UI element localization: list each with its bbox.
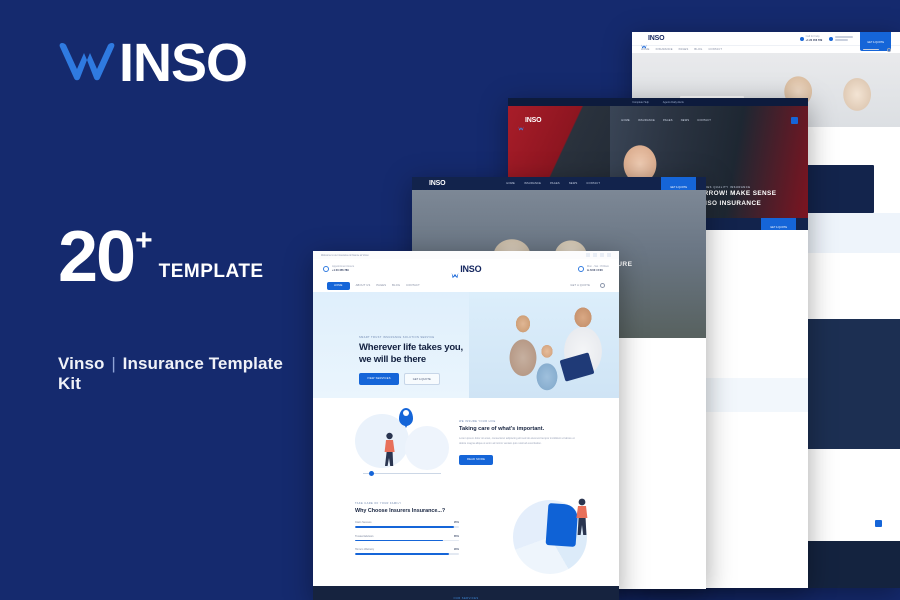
progress-bar-row: Home's Warranty 90%	[355, 548, 459, 555]
main-topbar: Welcome to our insurance & finance at Vi…	[313, 251, 619, 259]
progress-track	[355, 540, 459, 542]
selfie-nav[interactable]: INSO HOME INSURANCE PAGES NEWS CONTACT G…	[412, 177, 706, 190]
main-contact2-value: to 6:00 / 6:00	[587, 269, 609, 273]
elderly-contact-value: +1 23 456 789	[806, 39, 823, 43]
nav-item-pages[interactable]: PAGES	[376, 284, 386, 287]
main-section3-title: Why Choose Insurers Insurance...?	[355, 508, 459, 514]
main-hero-kicker: SMART TRUST INSURANCE SOLUTION SERVICE	[359, 336, 467, 339]
left-panel: INSO 20 + TEMPLATE Vinso | Insurance Tem…	[0, 0, 310, 600]
selfie-logo[interactable]: INSO	[422, 180, 445, 187]
nav-item-contact[interactable]: CONTACT	[406, 284, 420, 287]
elderly-logo[interactable]: INSO	[641, 35, 664, 42]
main-section2-body: Lorem ipsum dolor sit amet, consectetur …	[459, 437, 577, 447]
nav-item[interactable]: INSURANCE	[638, 119, 655, 122]
search-icon[interactable]	[887, 48, 891, 52]
nav-item[interactable]: PAGES	[550, 182, 560, 185]
car-topbar-right: Agents Daily Alerts	[663, 101, 684, 104]
car-topbar: Complete Help Agents Daily Alerts	[508, 98, 808, 106]
nav-item[interactable]: PAGES	[679, 48, 689, 51]
main-contact-2[interactable]: Mon - Sat : 8:00am to 6:00 / 6:00	[578, 265, 609, 273]
main-logo-text: INSO	[460, 264, 481, 274]
progress-percent: 95%	[454, 521, 459, 524]
hands-v-icon	[451, 266, 459, 273]
car-nav-items[interactable]: HOME INSURANCE PAGES NEWS CONTACT	[621, 119, 711, 122]
nav-item-home[interactable]: HOME	[327, 282, 350, 290]
main-pie-chart	[495, 492, 605, 580]
main-hero: SMART TRUST INSURANCE SOLUTION SERVICE W…	[313, 292, 619, 398]
progress-track	[355, 553, 459, 555]
instagram-icon[interactable]	[607, 253, 611, 257]
template-label: TEMPLATE	[159, 261, 264, 283]
template-count-plus: +	[135, 226, 153, 256]
hands-v-icon	[518, 118, 524, 123]
main-hero-secondary-button[interactable]: GET A QUOTE	[404, 373, 440, 385]
progress-bar-row: Claim Success 95%	[355, 521, 459, 528]
nav-item[interactable]: CONTACT	[708, 48, 722, 51]
person-illustration	[575, 498, 589, 538]
selfie-nav-items[interactable]: HOME INSURANCE PAGES NEWS CONTACT	[506, 182, 600, 185]
main-hero-photo	[469, 292, 619, 398]
person-illustration	[383, 432, 396, 468]
main-section3-kicker: TAKE CARE OF YOUR FAMILY	[355, 502, 459, 505]
main-contact-1[interactable]: Appointment Hours +1 23 456 789	[323, 265, 354, 273]
main-contact1-value: +1 23 456 789	[332, 269, 354, 273]
main-section2-title: Taking care of what's important.	[459, 426, 577, 432]
map-pin-icon	[399, 408, 413, 426]
main-section-care-copy: WE INSURE YOUR LIFE Taking care of what'…	[459, 420, 577, 465]
car-logo-text: INSO	[525, 117, 541, 124]
search-icon[interactable]	[600, 283, 605, 288]
nav-item-about[interactable]: ABOUT US	[356, 284, 371, 287]
main-section-why: TAKE CARE OF YOUR FAMILY Why Choose Insu…	[313, 486, 619, 586]
template-count: 20 + TEMPLATE	[58, 228, 264, 287]
pie-chart-slice	[546, 503, 579, 547]
main-section2-button[interactable]: READ MORE	[459, 455, 493, 465]
nav-item[interactable]: BLOG	[694, 48, 702, 51]
progress-bar-row: Trusted Advisors 85%	[355, 535, 459, 542]
car-topbar-left: Complete Help	[632, 101, 649, 104]
blur-line	[863, 49, 879, 51]
nav-item-blog[interactable]: BLOG	[392, 284, 400, 287]
clock-icon	[829, 37, 833, 41]
nav-item[interactable]: NEWS	[681, 119, 690, 122]
main-topbar-note: Welcome to our insurance & finance at Vi…	[321, 254, 369, 257]
main-nav-cta[interactable]: GET A QUOTE	[570, 284, 590, 287]
car-logo[interactable]: INSO	[518, 117, 541, 124]
main-hero-primary-button[interactable]: VIEW SERVICES	[359, 373, 399, 385]
blur-line	[835, 36, 853, 38]
main-topbar-social[interactable]	[586, 253, 611, 257]
main-illustration	[353, 406, 453, 478]
elderly-nav-items[interactable]: HOME INSURANCE PAGES BLOG CONTACT	[641, 48, 722, 51]
facebook-icon[interactable]	[586, 253, 590, 257]
nav-item[interactable]: INSURANCE	[656, 48, 673, 51]
phone-icon	[800, 37, 804, 41]
hands-v-icon	[57, 40, 117, 86]
linkedin-icon[interactable]	[600, 253, 604, 257]
progress-label: Home's Warranty	[355, 548, 374, 551]
elderly-nav[interactable]: INSO Call for help +1 23 456 789	[632, 32, 900, 45]
clock-icon	[323, 266, 329, 272]
progress-percent: 85%	[454, 535, 459, 538]
nav-item[interactable]: NEWS	[569, 182, 578, 185]
progress-percent: 90%	[454, 548, 459, 551]
showcase-canvas: INSO Call for help +1 23 456 789	[0, 0, 900, 600]
nav-item[interactable]: CONTACT	[586, 182, 600, 185]
selfie-logo-text: INSO	[429, 180, 445, 187]
main-section-why-copy: TAKE CARE OF YOUR FAMILY Why Choose Insu…	[355, 502, 459, 555]
kit-subtitle-divider: |	[109, 354, 118, 373]
main-hero-buttons[interactable]: VIEW SERVICES GET A QUOTE	[359, 373, 467, 385]
kit-subtitle-name: Vinso	[58, 354, 104, 373]
twitter-icon[interactable]	[593, 253, 597, 257]
main-header[interactable]: Appointment Hours +1 23 456 789 INSO Mon…	[313, 259, 619, 279]
main-logo[interactable]: INSO	[451, 264, 482, 274]
template-count-number: 20	[58, 228, 134, 287]
main-nav-items[interactable]: HOME ABOUT US PAGES BLOG CONTACT	[327, 282, 420, 290]
elderly-logo-text: INSO	[648, 35, 664, 42]
nav-item[interactable]: PAGES	[663, 119, 673, 122]
main-hero-title-1: Wherever life takes you,	[359, 342, 467, 354]
car-nav[interactable]: INSO HOME INSURANCE PAGES NEWS CONTACT	[508, 114, 808, 127]
main-footer: OUR SERVICES Our feature services	[313, 586, 619, 600]
calendar-icon	[578, 266, 584, 272]
kit-subtitle: Vinso | Insurance Template Kit	[58, 354, 310, 394]
main-section-care: WE INSURE YOUR LIFE Taking care of what'…	[313, 398, 619, 486]
mockup-main[interactable]: Welcome to our insurance & finance at Vi…	[313, 251, 619, 600]
nav-item[interactable]: HOME	[506, 182, 515, 185]
main-hero-copy: SMART TRUST INSURANCE SOLUTION SERVICE W…	[359, 336, 467, 385]
nav-item[interactable]: INSURANCE	[524, 182, 541, 185]
main-hero-title-2: we will be there	[359, 354, 467, 366]
hands-v-icon	[422, 181, 428, 186]
brand-logo: INSO	[57, 36, 247, 90]
blur-line	[835, 39, 848, 41]
progress-label: Claim Success	[355, 521, 372, 524]
main-navbar[interactable]: HOME ABOUT US PAGES BLOG CONTACT GET A Q…	[313, 279, 619, 292]
main-section2-kicker: WE INSURE YOUR LIFE	[459, 420, 577, 423]
progress-label: Trusted Advisors	[355, 535, 374, 538]
brand-logo-text: INSO	[119, 36, 247, 90]
nav-item[interactable]: HOME	[621, 119, 630, 122]
hands-v-icon	[641, 36, 647, 41]
elderly-next-button[interactable]	[875, 520, 882, 527]
progress-track	[355, 526, 459, 528]
nav-item[interactable]: CONTACT	[697, 119, 711, 122]
car-search-button[interactable]	[791, 117, 798, 124]
